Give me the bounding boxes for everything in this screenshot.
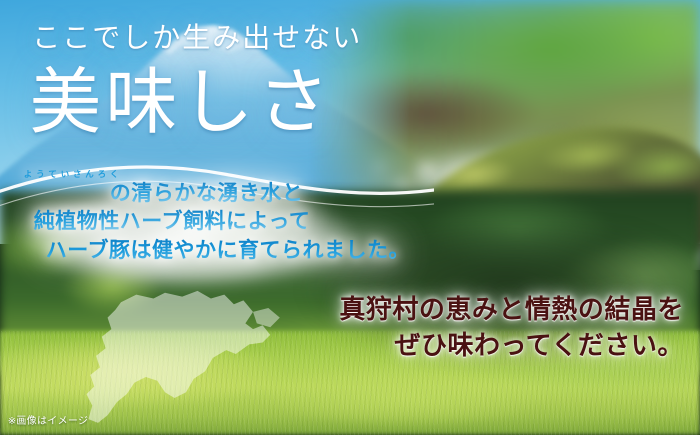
blue-line-1: ようていさんろく羊蹄山麓の清らかな湧き水と bbox=[24, 181, 410, 206]
kicker-text: ここでしか生み出せない bbox=[32, 25, 362, 53]
blue-line-3: ハーブ豚は健やかに育てられました。 bbox=[24, 238, 410, 263]
blue-line-1-rest: の清らかな湧き水と bbox=[110, 181, 304, 205]
promo-banner: ここでしか生み出せない 美味しさ ようていさんろく羊蹄山麓の清らかな湧き水と 純… bbox=[0, 0, 700, 435]
maroon-paragraph: 真狩村の恵みと情熱の結晶を ぜひ味わってください。 bbox=[339, 296, 684, 360]
ruby-annotation: ようていさんろく bbox=[24, 170, 110, 179]
maroon-line-2: ぜひ味わってください。 bbox=[339, 332, 684, 361]
hokkaido-map-silhouette bbox=[60, 287, 291, 431]
ruby-base-text: 羊蹄山麓 bbox=[24, 181, 110, 205]
ruby-group: ようていさんろく羊蹄山麓 bbox=[24, 181, 110, 206]
image-disclaimer: ※画像はイメージ bbox=[8, 412, 89, 427]
blue-paragraph: ようていさんろく羊蹄山麓の清らかな湧き水と 純植物性ハーブ飼料によって ハーブ豚… bbox=[24, 181, 410, 263]
maroon-line-1: 真狩村の恵みと情熱の結晶を bbox=[339, 296, 684, 325]
headline-text: 美味しさ bbox=[29, 67, 333, 139]
blue-line-2: 純植物性ハーブ飼料によって bbox=[24, 209, 410, 234]
